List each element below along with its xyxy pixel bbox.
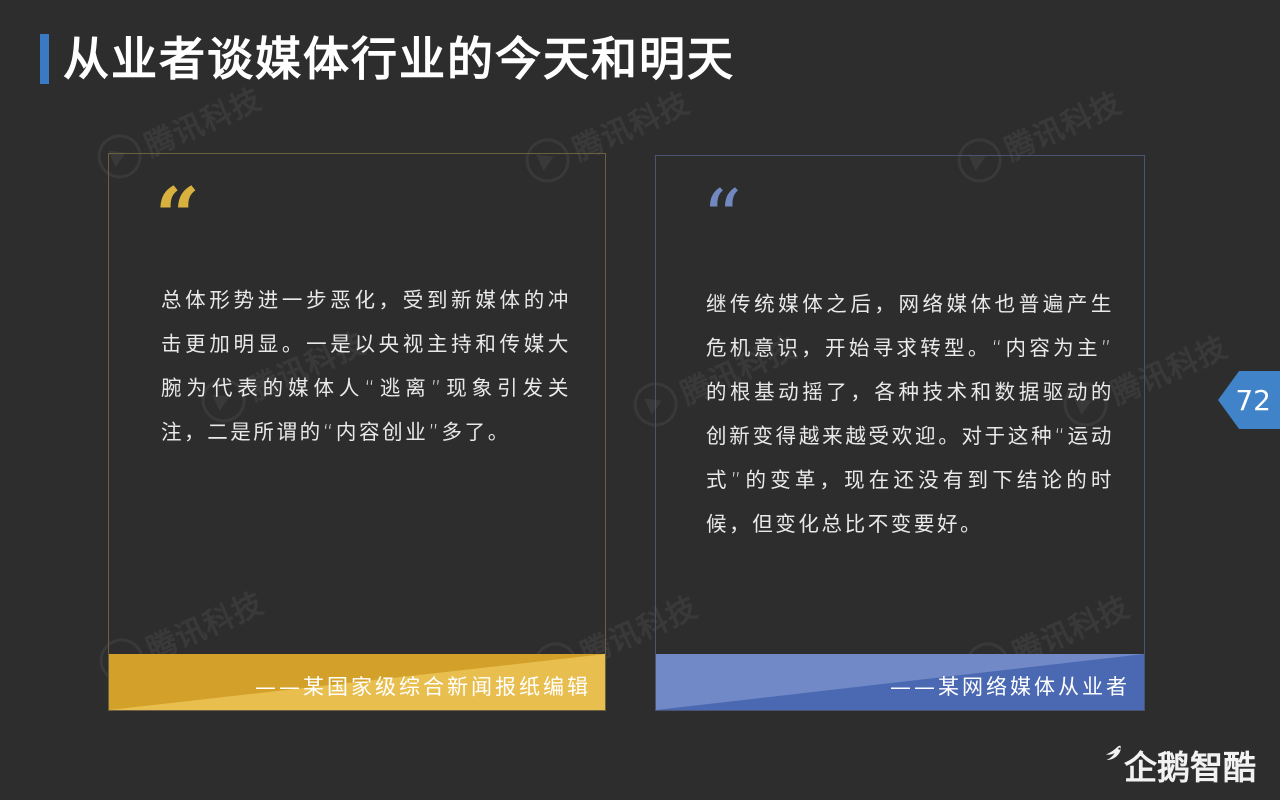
title-accent-bar — [40, 34, 49, 84]
quotation-mark-icon: “ — [702, 188, 742, 250]
page-title: 从业者谈媒体行业的今天和明天 — [63, 36, 735, 82]
slide-root: 腾讯科技 腾讯科技 腾讯科技 腾讯科技 腾讯科技 腾讯科技 腾讯科技 腾讯科技 — [0, 0, 1280, 800]
quote-card-right: “ 继传统媒体之后，网络媒体也普遍产生危机意识，开始寻求转型。“内容为主”的根基… — [655, 155, 1145, 711]
brand-logo: 企鹅智酷 — [1098, 744, 1256, 784]
watermark-text: 腾讯科技 — [136, 75, 267, 166]
page-number-badge: 72 — [1218, 371, 1280, 429]
brand-name: 企鹅智酷 — [1124, 751, 1256, 784]
quote-body-text: 总体形势进一步恶化，受到新媒体的冲击更加明显。一是以央视主持和传媒大腕为代表的媒… — [161, 278, 571, 454]
penguin-icon — [1098, 744, 1128, 784]
quotation-mark-icon: “ — [155, 186, 200, 248]
page-number: 72 — [1235, 384, 1280, 417]
page-header: 从业者谈媒体行业的今天和明天 — [40, 34, 735, 84]
quote-card-left: “ 总体形势进一步恶化，受到新媒体的冲击更加明显。一是以央视主持和传媒大腕为代表… — [108, 153, 606, 711]
attribution-text: ——某网络媒体从业者 — [890, 671, 1130, 701]
attribution-banner: ——某国家级综合新闻报纸编辑 — [109, 654, 605, 710]
attribution-banner: ——某网络媒体从业者 — [656, 654, 1144, 710]
quote-body-text: 继传统媒体之后，网络媒体也普遍产生危机意识，开始寻求转型。“内容为主”的根基动摇… — [706, 282, 1114, 546]
attribution-text: ——某国家级综合新闻报纸编辑 — [255, 671, 591, 701]
